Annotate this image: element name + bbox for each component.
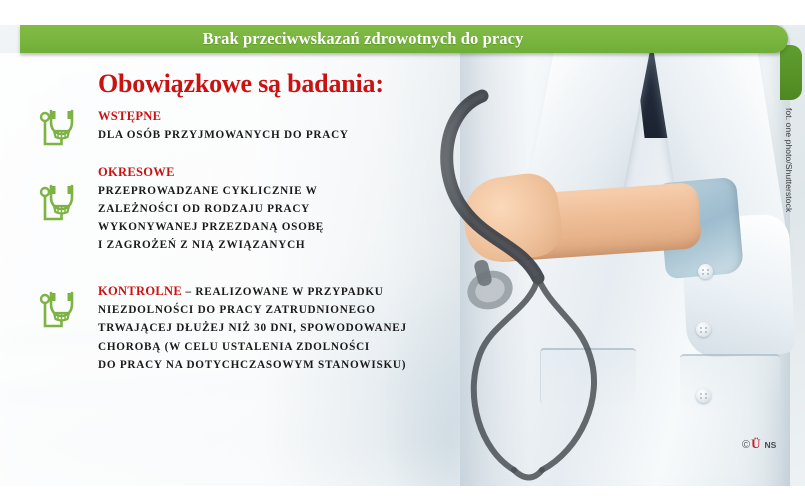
bottom-margin [0, 486, 805, 500]
section-okresowe: OKRESOWE PRZEPROWADZANE CYKLICZNIE W ZAL… [98, 165, 470, 254]
top-margin [0, 0, 805, 25]
section-body: DLA OSÓB PRZYJMOWANYCH DO PRACY [98, 126, 470, 144]
header-title: Brak przeciwwskazań zdrowotnych do pracy [203, 29, 524, 49]
stethoscope-icon [36, 285, 84, 333]
logo-symbol: Ü [751, 437, 760, 450]
section-inline-text: – REALIZOWANE W PRZYPADKU [182, 286, 384, 298]
copyright-icon: © [742, 440, 750, 451]
section-inline-heading: KONTROLNE – REALIZOWANE W PRZYPADKU [98, 281, 470, 301]
infographic-root: Brak przeciwwskazań zdrowotnych do pracy… [0, 0, 805, 500]
section-label: KONTROLNE [98, 284, 182, 298]
content-area: Obowiązkowe są badania: [0, 53, 470, 500]
header-bar: Brak przeciwwskazań zdrowotnych do pracy [20, 25, 788, 53]
coat-button-2 [696, 322, 711, 337]
section-body-line: PRZEPROWADZANE CYKLICZNIE W [98, 182, 470, 200]
section-body: PRZEPROWADZANE CYKLICZNIE W ZALEŻNOŚCI O… [98, 182, 470, 255]
section-body-line: DO PRACY NA DOTYCHCZASOWYM STANOWISKU) [98, 356, 470, 374]
doctor-photo [430, 18, 805, 500]
photo-credit: fot. one photo/Shutterstock [784, 108, 794, 248]
section-body: NIEZDOLNOŚCI DO PRACY ZATRUDNIONEGO TRWA… [98, 301, 470, 374]
coat-pocket-left [540, 348, 636, 404]
section-body-line: TRWAJĄCEJ DŁUŻEJ NIŻ 30 DNI, SPOWODOWANE… [98, 319, 470, 337]
section-kontrolne: KONTROLNE – REALIZOWANE W PRZYPADKU NIEZ… [98, 281, 470, 374]
coat-button-3 [696, 388, 711, 403]
section-body-line: ZALEŻNOŚCI OD RODZAJU PRACY [98, 200, 470, 218]
logo-text: NS [765, 441, 777, 450]
stethoscope-icon [36, 103, 84, 151]
publisher-logo: © Ü NS [742, 437, 776, 451]
coat-pocket-right [680, 354, 780, 412]
section-label: OKRESOWE [98, 165, 470, 181]
section-label: WSTĘPNE [98, 109, 470, 125]
section-body-line: NIEZDOLNOŚCI DO PRACY ZATRUDNIONEGO [98, 301, 470, 319]
page-title: Obowiązkowe są badania: [98, 69, 384, 99]
coat-button-1 [698, 264, 713, 279]
section-body-line: I ZAGROŻEŃ Z NIĄ ZWIĄZANYCH [98, 236, 470, 254]
header-fold-tab [780, 45, 802, 100]
section-body-line: DLA OSÓB PRZYJMOWANYCH DO PRACY [98, 126, 470, 144]
section-wstepne: WSTĘPNE DLA OSÓB PRZYJMOWANYCH DO PRACY [98, 109, 470, 144]
stethoscope-icon [36, 178, 84, 226]
section-body-line: WYKONYWANEJ PRZEZDANĄ OSOBĘ [98, 218, 470, 236]
section-body-line: CHOROBĄ (W CELU USTALENIA ZDOLNOŚCI [98, 338, 470, 356]
